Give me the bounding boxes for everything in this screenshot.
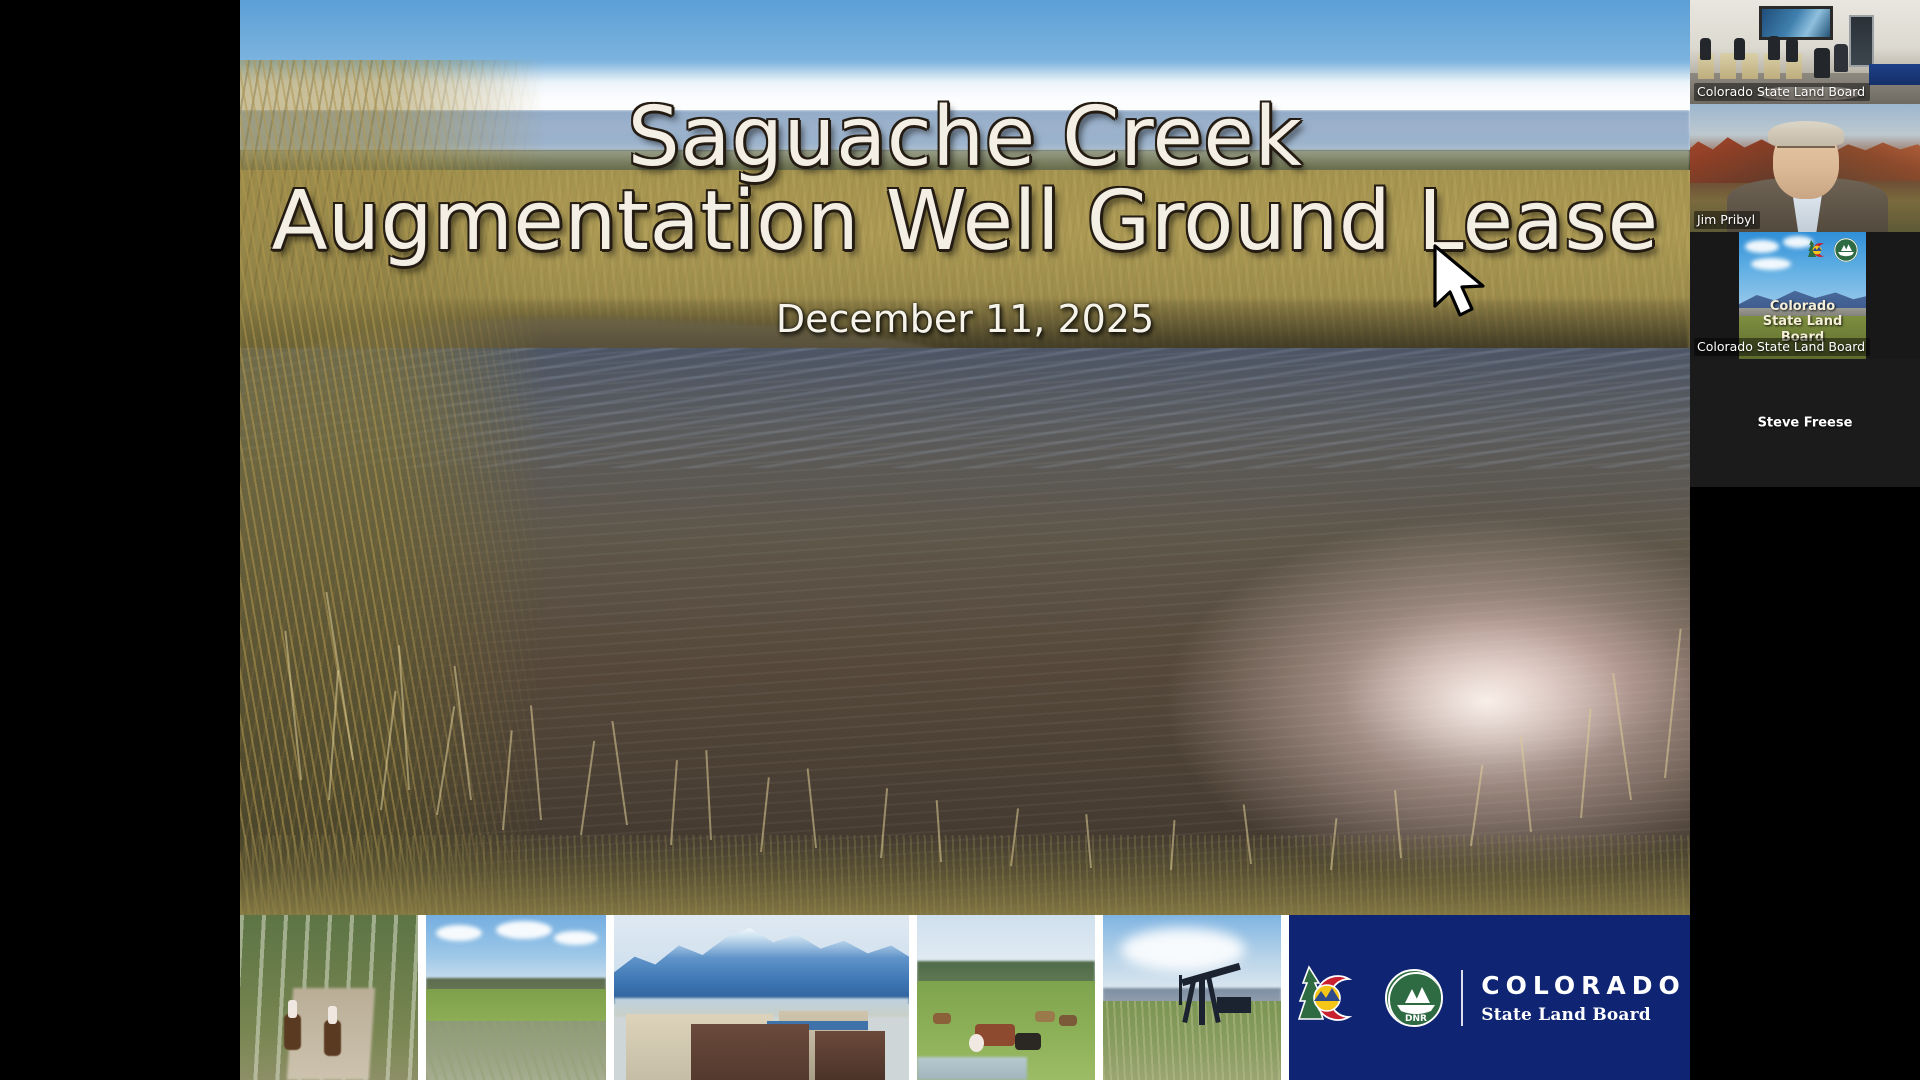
logo-division: State Land Board [1481,1005,1686,1025]
filmstrip-photo-prairie-sagebrush [426,915,606,1080]
colorado-c-logo-icon [1293,961,1367,1035]
filmstrip-photo-school-mountains [614,915,909,1080]
cow-distant-2 [1035,1011,1055,1022]
filmstrip-photo-cattle-pasture [917,915,1095,1080]
pumpjack-counterweight [1217,997,1251,1013]
cow-head [969,1034,984,1052]
slide-filmstrip: DNR COLORADO State Land Board [240,915,1690,1080]
cslb-avatar-name-line1: Colorado [1739,299,1866,314]
sagebrush-foreground [426,1021,606,1080]
colorado-c-logo-icon [1806,238,1830,262]
filmstrip-photo-oil-pumpjack [1103,915,1281,1080]
room-attendee [1734,38,1745,60]
filmstrip-photo-horseback-riders [240,915,418,1080]
horse-1 [284,1014,301,1050]
room-attendee [1700,38,1711,60]
video-tile-label: Colorado State Land Board [1694,338,1870,356]
svg-text:DNR: DNR [1405,1014,1427,1024]
room-doorway [1849,15,1874,67]
cloud-3 [554,931,598,945]
hero-foreground-grass [240,835,1690,915]
video-tile-board-room[interactable]: Colorado State Land Board [1690,0,1920,104]
video-tile-label: Jim Pribyl [1694,211,1760,229]
cslb-cloud-3 [1751,258,1791,270]
pumpjack-horsehead-rod [1179,975,1182,1005]
room-side-table [1869,64,1920,85]
room-wall-display [1759,6,1833,39]
dnr-badge-icon [1834,238,1858,262]
video-tile-colorado-state-land-board-avatar[interactable]: Colorado State Land Board Colorado State… [1690,232,1920,359]
cslb-avatar-badges [1806,238,1860,262]
hero-left-brush [240,60,545,915]
room-speaker [1814,48,1830,78]
pumpjack-samson-post [1199,975,1205,1025]
video-tile-label: Colorado State Land Board [1694,83,1870,101]
rider-2 [328,1006,337,1024]
pumpjack-cloud [1121,928,1246,971]
pumpjack-field [1103,1001,1281,1080]
video-tile-jim-pribyl[interactable]: Jim Pribyl [1690,104,1920,232]
meeting-screen: Saguache Creek Augmentation Well Ground … [0,0,1920,1080]
cow-distant-3 [1059,1015,1077,1026]
logo-divider [1461,970,1463,1026]
jim-hair [1768,121,1844,147]
slide-logo-panel: DNR COLORADO State Land Board [1289,915,1690,1080]
participant-video-rail[interactable]: Colorado State Land Board Jim Pribyl [1690,0,1920,1080]
room-attendee [1768,36,1780,60]
video-tile-steve-freese[interactable]: Steve Freese [1690,359,1920,487]
school-building-wing-d [815,1031,886,1080]
shared-slide[interactable]: Saguache Creek Augmentation Well Ground … [240,0,1690,1080]
cslb-cloud-1 [1745,240,1779,253]
cow-distant-1 [933,1013,951,1024]
room-attendee [1834,44,1848,72]
horse-2 [324,1020,341,1056]
jim-glasses [1777,146,1835,155]
rider-1 [288,1000,297,1018]
slide-hero-photo [240,0,1690,915]
dnr-badge-icon: DNR [1385,969,1443,1027]
school-building-wing-b [691,1024,809,1080]
calf [1015,1033,1041,1050]
room-attendee [1786,38,1798,62]
logo-organization: COLORADO [1481,971,1686,1000]
cloud-1 [436,925,482,941]
video-tile-label: Steve Freese [1690,416,1920,431]
pasture-pond [917,1057,1027,1080]
cloud-2 [496,921,552,939]
